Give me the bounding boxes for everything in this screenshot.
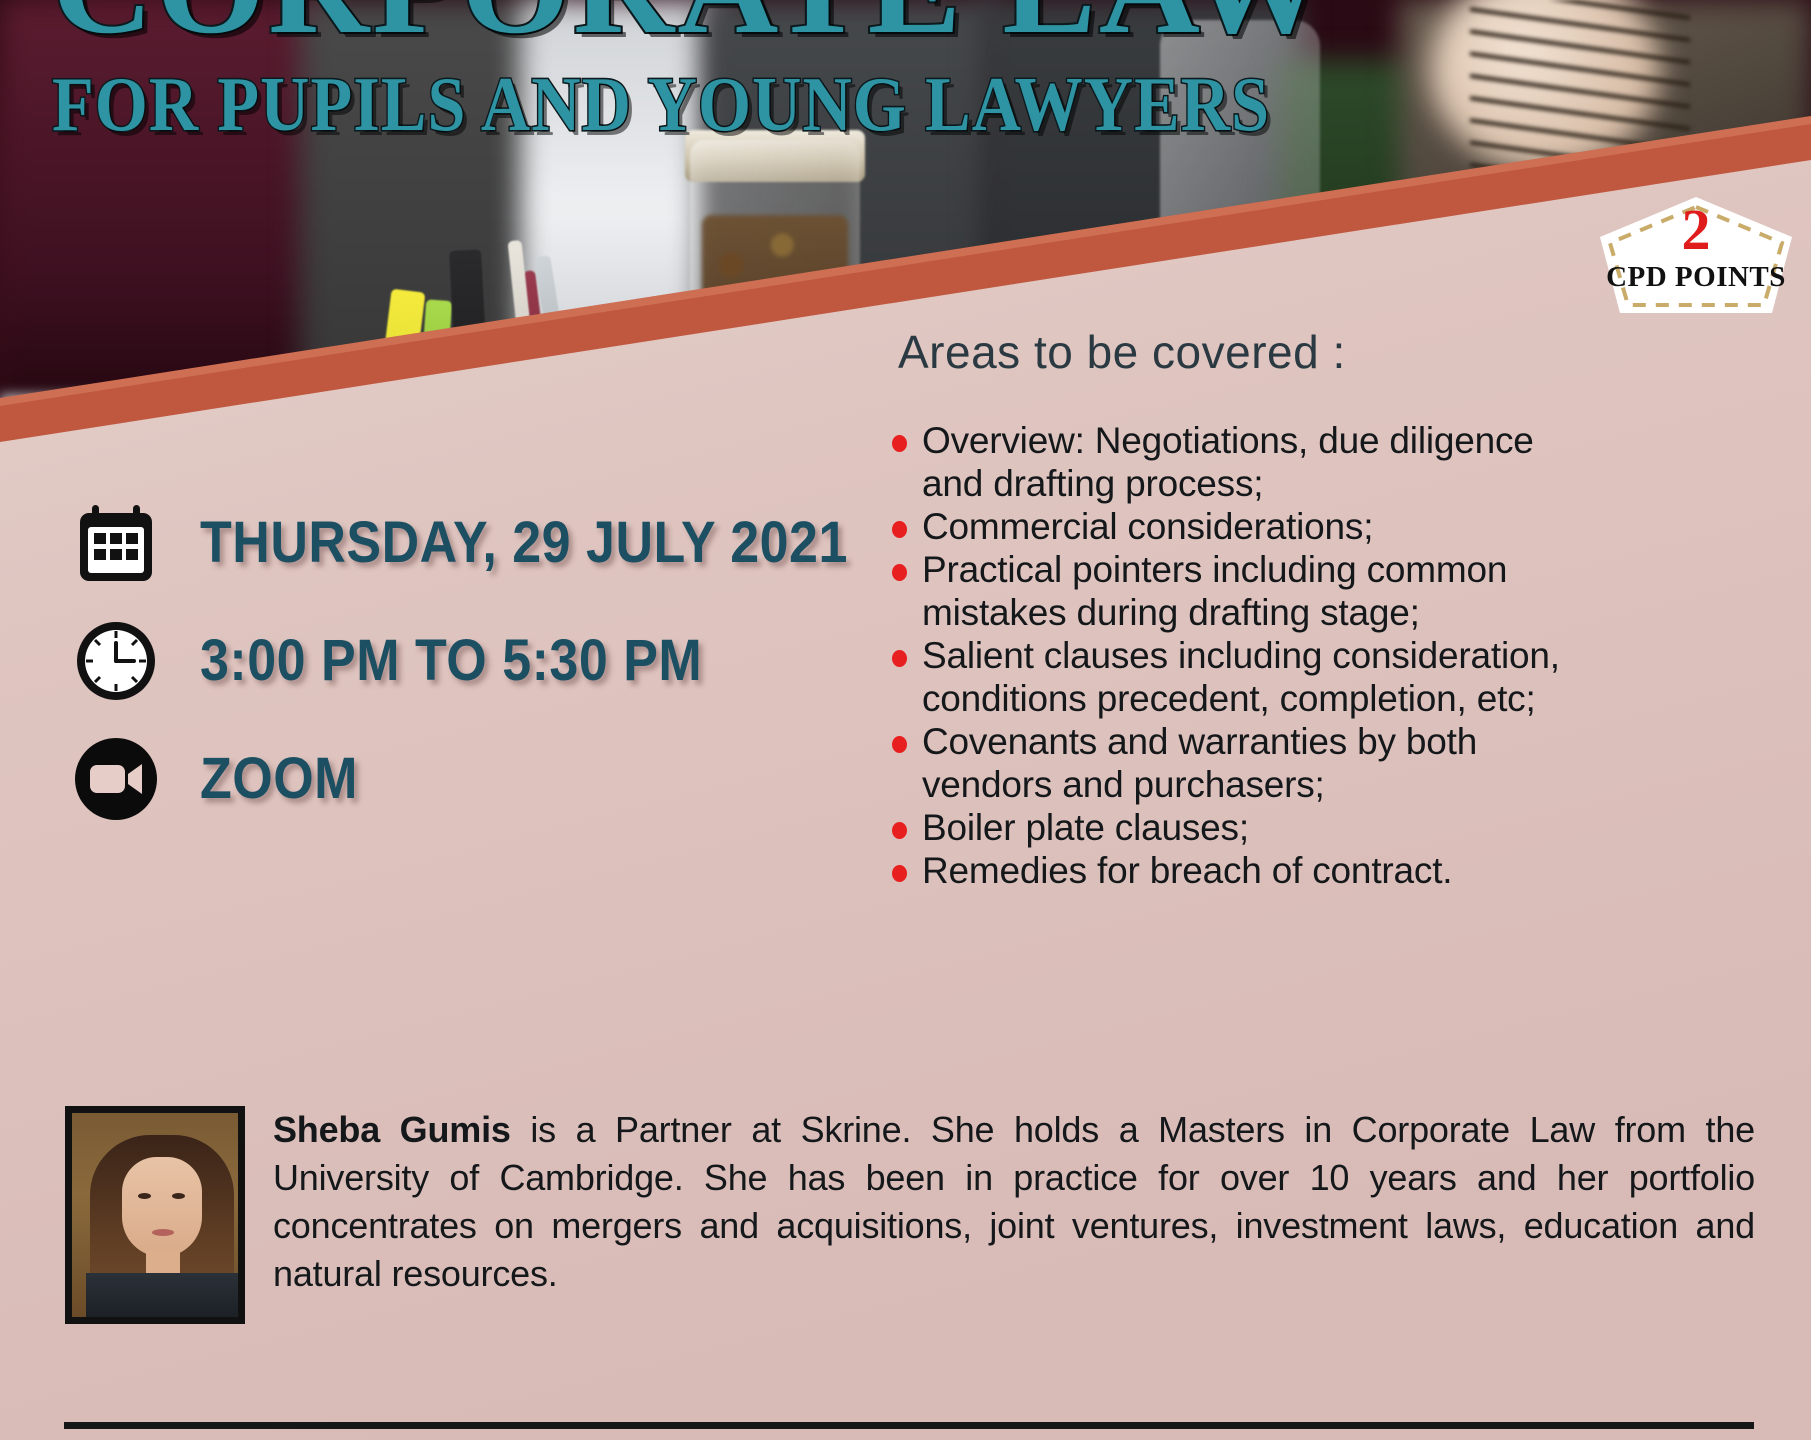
page-title: CORPORATE LAW (52, 0, 1331, 54)
list-item: Covenants and warranties by both vendors… (880, 720, 1580, 806)
cpd-points-value: 2 (1596, 201, 1796, 259)
avatar-face (122, 1157, 202, 1257)
areas-to-be-covered-section: Areas to be covered : Overview: Negotiat… (880, 325, 1580, 892)
bottom-divider (64, 1422, 1754, 1429)
event-date-row: THURSDAY, 29 JULY 2021 (70, 484, 870, 602)
speaker-bio-section: Sheba Gumis is a Partner at Skrine. She … (65, 1106, 1755, 1324)
cpd-points-badge: 2 CPD POINTS (1596, 195, 1796, 330)
avatar-eye-right (172, 1193, 185, 1199)
list-item: Practical pointers including common mist… (880, 548, 1580, 634)
list-item: Commercial considerations; (880, 505, 1580, 548)
avatar-lips (152, 1229, 174, 1236)
list-item: Boiler plate clauses; (880, 806, 1580, 849)
speaker-bio-text: Sheba Gumis is a Partner at Skrine. She … (273, 1106, 1755, 1324)
list-item: Salient clauses including consideration,… (880, 634, 1580, 720)
event-platform-row: ZOOM (70, 720, 870, 838)
zoom-video-icon (70, 736, 162, 822)
avatar-suit (86, 1273, 238, 1324)
clock-icon (70, 619, 162, 703)
event-details-list: THURSDAY, 29 JULY 2021 (70, 484, 870, 838)
calendar-icon (70, 501, 162, 585)
page-subtitle: FOR PUPILS AND YOUNG LAWYERS (52, 61, 1379, 150)
areas-heading: Areas to be covered : (898, 325, 1580, 379)
event-date-value: THURSDAY, 29 JULY 2021 (162, 509, 848, 576)
speaker-avatar (65, 1106, 245, 1324)
cpd-points-label: CPD POINTS (1596, 261, 1796, 294)
speaker-name: Sheba Gumis (273, 1109, 511, 1150)
event-time-row: 3:00 PM TO 5:30 PM (70, 602, 870, 720)
list-item: Remedies for breach of contract. (880, 849, 1580, 892)
areas-bullet-list: Overview: Negotiations, due diligence an… (880, 419, 1580, 892)
list-item: Overview: Negotiations, due diligence an… (880, 419, 1580, 505)
event-time-value: 3:00 PM TO 5:30 PM (162, 627, 702, 694)
avatar-eye-left (138, 1193, 151, 1199)
poster-title-block: CORPORATE LAW FOR PUPILS AND YOUNG LAWYE… (52, 0, 1258, 141)
event-platform-value: ZOOM (162, 745, 358, 812)
